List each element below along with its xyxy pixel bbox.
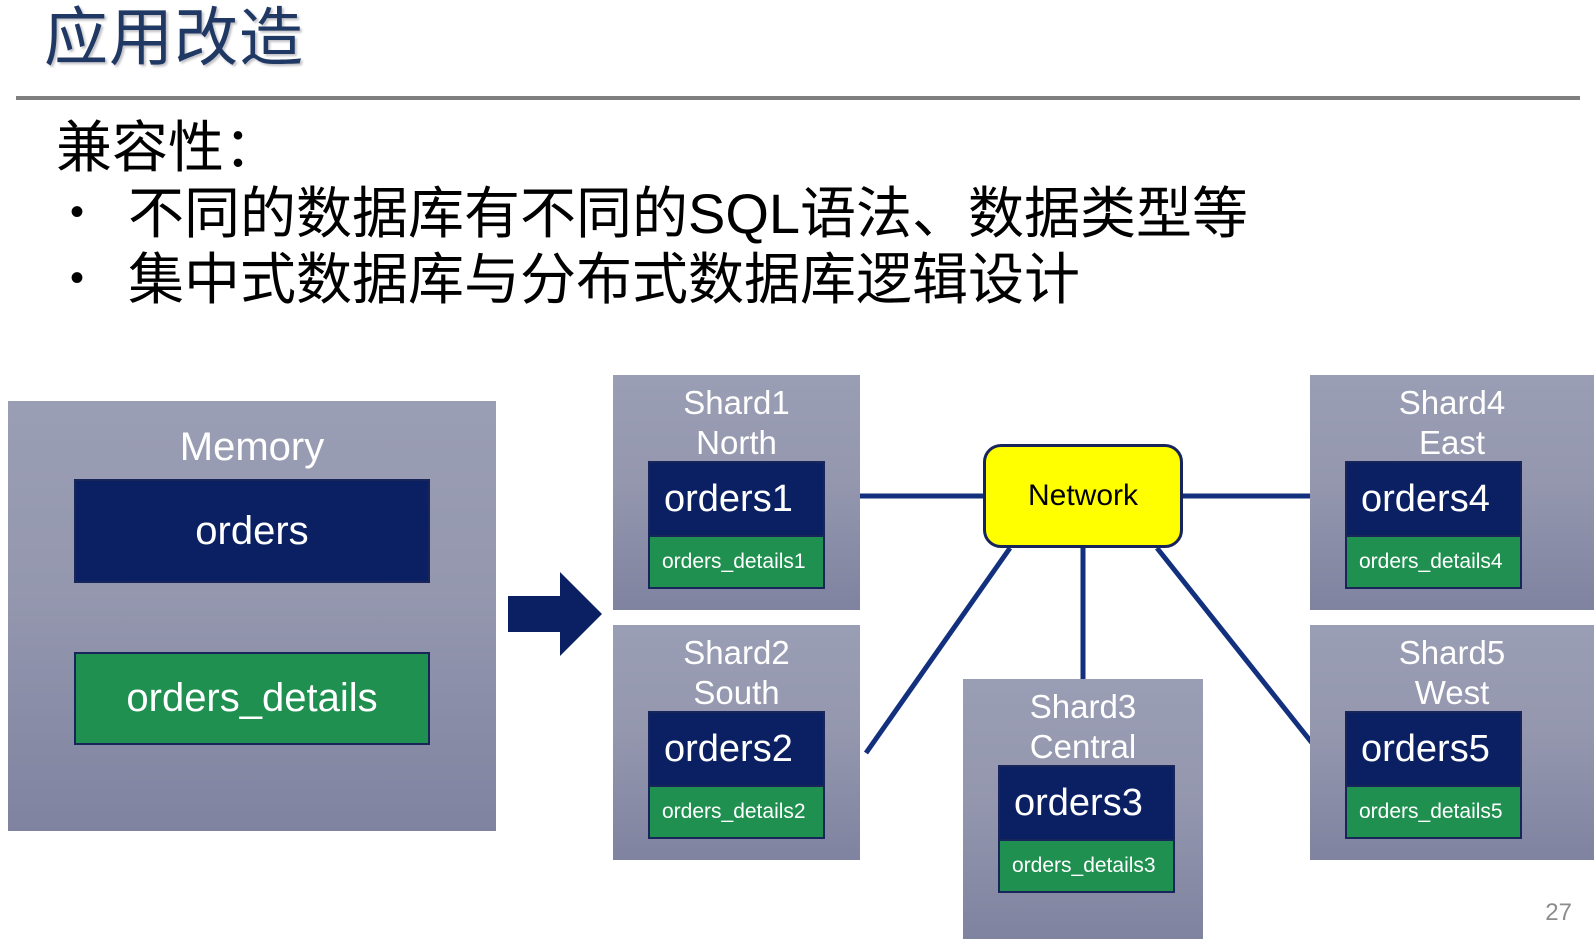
shard3-orders-table[interactable]: orders3 xyxy=(998,765,1175,840)
shard4-orders-details-table[interactable]: orders_details4 xyxy=(1345,536,1522,589)
shard3-orders-details-table[interactable]: orders_details3 xyxy=(998,840,1175,893)
memory-panel-title: Memory xyxy=(8,401,496,471)
shard5-title: Shard5 West xyxy=(1310,625,1594,712)
shard2-orders-table[interactable]: orders2 xyxy=(648,711,825,786)
shard5-orders-details-table[interactable]: orders_details5 xyxy=(1345,786,1522,839)
network-node[interactable]: Network xyxy=(983,444,1183,548)
memory-orders-details-table[interactable]: orders_details xyxy=(74,652,430,745)
sharding-architecture-diagram: Memory orders orders_details Network Sha… xyxy=(0,0,1594,939)
shard4-orders-table[interactable]: orders4 xyxy=(1345,461,1522,536)
shard1-orders-table[interactable]: orders1 xyxy=(648,461,825,536)
shard3-title: Shard3 Central xyxy=(963,679,1203,766)
memory-panel[interactable]: Memory xyxy=(8,401,496,831)
memory-orders-table[interactable]: orders xyxy=(74,479,430,583)
shard1-title: Shard1 North xyxy=(613,375,860,462)
shard5-orders-table[interactable]: orders5 xyxy=(1345,711,1522,786)
shard4-title: Shard4 East xyxy=(1310,375,1594,462)
network-node-label: Network xyxy=(1028,479,1138,513)
shard2-title: Shard2 South xyxy=(613,625,860,712)
transform-arrow-icon xyxy=(508,566,604,662)
page-number: 27 xyxy=(1545,899,1572,927)
shard2-orders-details-table[interactable]: orders_details2 xyxy=(648,786,825,839)
shard1-orders-details-table[interactable]: orders_details1 xyxy=(648,536,825,589)
